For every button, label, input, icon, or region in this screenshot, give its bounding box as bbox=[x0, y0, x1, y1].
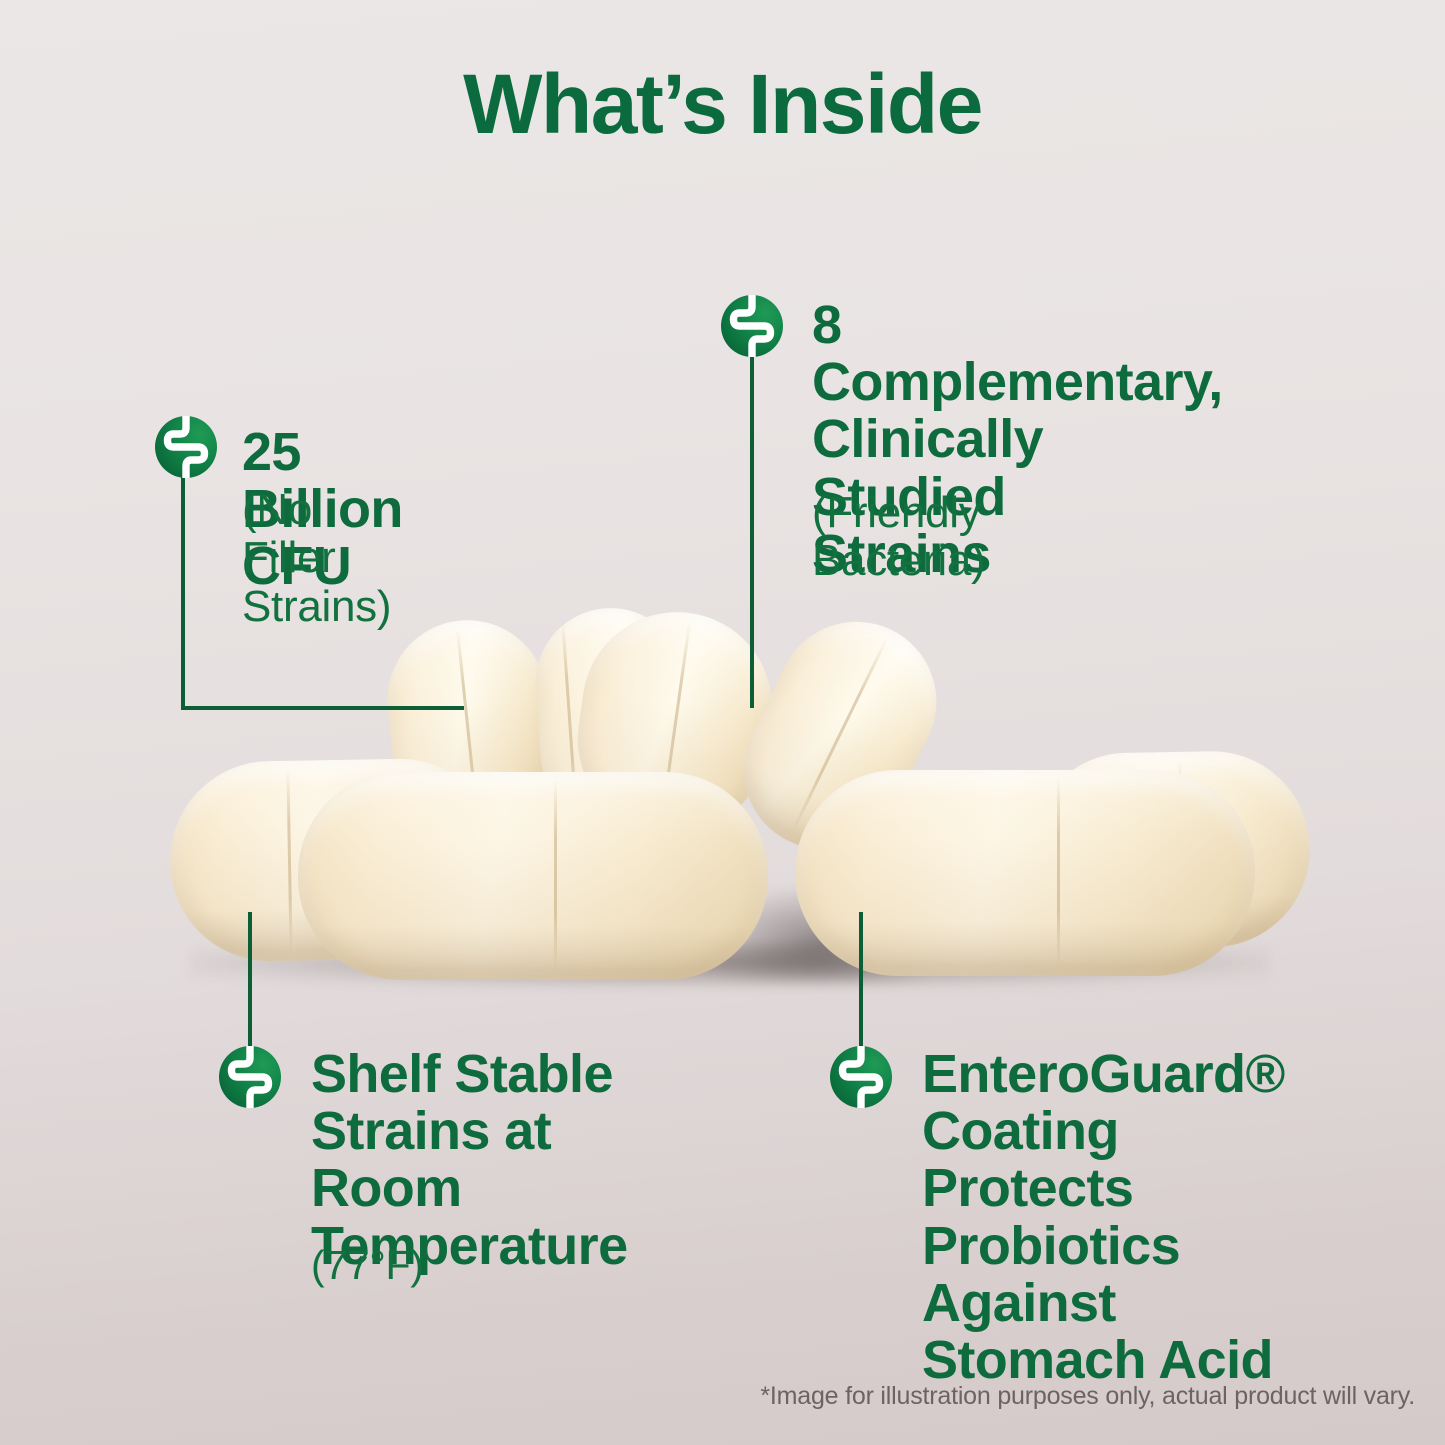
connector-line-cfu-horizontal bbox=[181, 706, 464, 710]
gut-icon bbox=[721, 295, 783, 357]
gut-icon bbox=[830, 1046, 892, 1108]
connector-line-cfu-vertical bbox=[181, 470, 185, 710]
infographic-canvas: What’s Inside bbox=[0, 0, 1445, 1445]
callout-cfu-subtext: (No Filler Strains) bbox=[242, 486, 391, 631]
callout-strains-subtext: (Friendly Bacteria) bbox=[812, 489, 985, 586]
callout-shelf-stable-headline: Shelf Stable Strains at Room Temperature bbox=[311, 1046, 628, 1275]
gut-icon bbox=[219, 1046, 281, 1108]
capsule-bottom-right bbox=[795, 770, 1255, 976]
connector-line-enteroguard bbox=[859, 912, 863, 1062]
product-capsule-photo bbox=[150, 590, 1310, 1020]
callout-shelf-stable-subtext: (77°F) bbox=[311, 1243, 424, 1288]
capsule-bottom-center bbox=[298, 772, 768, 980]
connector-line-strains bbox=[750, 350, 754, 708]
connector-line-shelf-stable bbox=[248, 912, 252, 1062]
footnote-disclaimer: *Image for illustration purposes only, a… bbox=[760, 1382, 1415, 1411]
gut-icon bbox=[155, 416, 217, 478]
page-title: What’s Inside bbox=[0, 62, 1445, 146]
callout-enteroguard-headline: EnteroGuard® Coating Protects Probiotics… bbox=[922, 1046, 1285, 1389]
